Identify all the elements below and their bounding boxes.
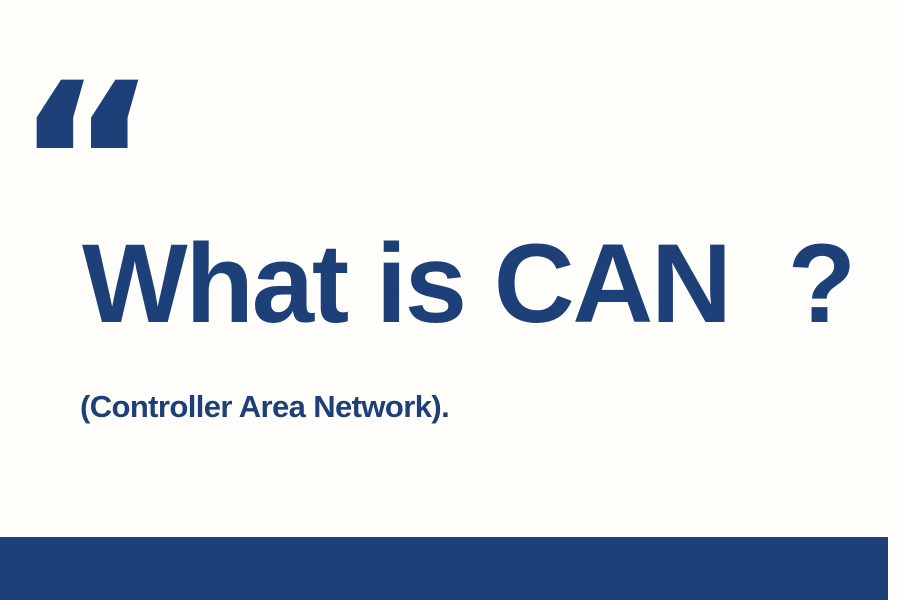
page-title: What is CAN ? [82,228,854,340]
slide-canvas: “ What is CAN ? (Controller Area Network… [0,0,900,600]
bottom-accent-bar [0,537,888,600]
page-subtitle: (Controller Area Network). [80,389,449,425]
